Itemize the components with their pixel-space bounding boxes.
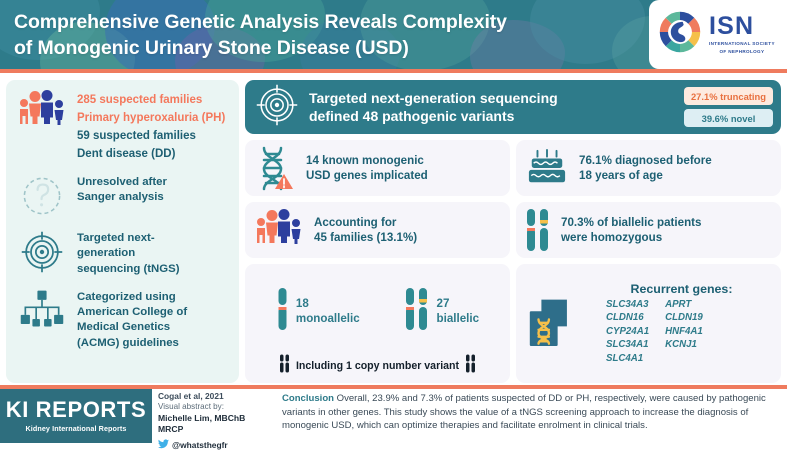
card-age-at-diagnosis: 76.1% diagnosed before 18 years of age (516, 140, 781, 196)
credit-label: Visual abstract by: (158, 402, 276, 413)
known-genes-line1: 14 known monogenic (306, 154, 424, 167)
cohort-ph-count: 285 suspected families (77, 94, 202, 106)
family-group-icon (16, 89, 68, 133)
homozygous-line2: were homozygous (561, 231, 662, 244)
page-title-line2: of Monogenic Urinary Stone Disease (USD) (14, 36, 634, 62)
twitter-handle: @whatsthegfr (172, 440, 228, 450)
gene-name: SLC34A3 (606, 298, 649, 311)
dna-helix-warning-icon (254, 145, 296, 191)
age-line1: 76.1% diagnosed before (579, 154, 712, 167)
card-families-accounted: Accounting for 45 families (13.1%) (245, 202, 510, 258)
families-line2: 45 families (13.1%) (314, 231, 417, 244)
badge-truncating: 27.1% truncating (684, 87, 773, 105)
conclusion-text: Overall, 23.9% and 7.3% of patients susp… (282, 393, 766, 431)
chromosome-single-icon (276, 287, 289, 336)
banner-line2: defined 48 pathogenic variants (309, 108, 514, 124)
card-homozygous-text: 70.3% of biallelic patients were homozyg… (561, 215, 701, 246)
card-age-text: 76.1% diagnosed before 18 years of age (579, 153, 712, 184)
card-recurrent-genes: Recurrent genes: SLC34A3 CLDN16 CYP24A1 … (516, 264, 781, 383)
page-footer: KI REPORTS Kidney International Reports … (0, 389, 787, 443)
sidebar-item-unresolved: Unresolved after Sanger analysis (16, 174, 231, 218)
results-column-left: 14 known monogenic USD genes implicated (245, 140, 510, 383)
tngs-banner: Targeted next-generation sequencing defi… (245, 80, 781, 134)
results-grid: 14 known monogenic USD genes implicated (245, 140, 781, 383)
author-credits: Cogal et al, 2021 Visual abstract by: Mi… (152, 389, 280, 443)
sidebar-unresolved-label: Unresolved after Sanger analysis (77, 174, 167, 206)
allelic-counts: 18 monoallelic (254, 271, 501, 352)
isn-logo: ISN INTERNATIONAL SOCIETY OF NEPHROLOGY (649, 0, 787, 69)
banner-line1: Targeted next-generation sequencing (309, 90, 558, 106)
dashed-question-circle-icon (16, 174, 68, 218)
cohort-dd-count: 59 suspected families (77, 130, 196, 142)
biallelic-label: 27 biallelic (437, 297, 480, 326)
gene-name: CLDN19 (665, 311, 703, 324)
gene-name: APRT (665, 298, 703, 311)
card-known-genes: 14 known monogenic USD genes implicated (245, 140, 510, 196)
sidebar-tngs-label: Targeted next- generation sequencing (tN… (77, 230, 180, 277)
sidebar-item-tngs: Targeted next- generation sequencing (tN… (16, 230, 231, 277)
target-crosshair-icon (16, 230, 68, 274)
gene-name: CYP24A1 (606, 325, 649, 338)
sidebar-acmg-label: Categorized using American College of Me… (77, 289, 187, 351)
card-known-genes-text: 14 known monogenic USD genes implicated (306, 153, 428, 184)
family-group-icon (254, 208, 304, 252)
document-dna-icon (524, 295, 582, 353)
chromosome-pair-icon (404, 287, 430, 336)
target-crosshair-icon (255, 83, 299, 132)
gene-name: HNF4A1 (665, 325, 703, 338)
sidebar-item-acmg: Categorized using American College of Me… (16, 289, 231, 351)
ki-reports-subtitle: Kidney International Reports (25, 424, 126, 433)
conclusion-section: Conclusion Overall, 23.9% and 7.3% of pa… (280, 389, 787, 443)
hierarchy-tree-icon (16, 289, 68, 329)
known-genes-line2: USD genes implicated (306, 169, 428, 182)
birthday-cake-icon (525, 148, 569, 188)
chromosome-pair-small-right-icon (465, 354, 476, 378)
page-title: Comprehensive Genetic Analysis Reveals C… (14, 10, 634, 61)
banner-badges: 27.1% truncating 39.6% novel (684, 87, 773, 127)
cohort-dd-label: Dent disease (DD) (77, 148, 175, 160)
card-allelic-breakdown: 18 monoallelic (245, 264, 510, 383)
ki-reports-logo: KI REPORTS Kidney International Reports (0, 389, 152, 443)
age-line2: 18 years of age (579, 169, 663, 182)
chromosome-pair-icon (525, 208, 551, 252)
gene-column-2: APRT CLDN19 HNF4A1 KCNJ1 (665, 298, 703, 365)
ki-reports-title: KI REPORTS (6, 399, 146, 421)
gene-column-1: SLC34A3 CLDN16 CYP24A1 SLC34A1 SLC4A1 (606, 298, 649, 365)
author-credentials: MRCP (158, 424, 276, 435)
card-families-text: Accounting for 45 families (13.1%) (314, 215, 417, 246)
sidebar-item-cohort: 285 suspected families Primary hyperoxal… (16, 89, 231, 162)
copy-number-text: Including 1 copy number variant (296, 360, 459, 372)
results-column-right: 76.1% diagnosed before 18 years of age (516, 140, 781, 383)
citation: Cogal et al, 2021 (158, 391, 276, 402)
gene-name: SLC4A1 (606, 352, 649, 365)
conclusion-paragraph: Conclusion Overall, 23.9% and 7.3% of pa… (282, 392, 779, 433)
results-content: Targeted next-generation sequencing defi… (245, 80, 781, 383)
twitter-credit[interactable]: @whatsthegfr (158, 436, 276, 454)
isn-logo-text: ISN (709, 14, 775, 39)
banner-text: Targeted next-generation sequencing defi… (309, 89, 674, 125)
isn-logo-subtitle-line1: INTERNATIONAL SOCIETY (709, 41, 775, 47)
biallelic-count: 27 (437, 297, 450, 310)
chromosome-pair-small-left-icon (279, 354, 290, 378)
monoallelic-label: 18 monoallelic (296, 297, 360, 326)
cohort-ph-label: Primary hyperoxaluria (PH) (77, 112, 225, 124)
monoallelic-count: 18 (296, 297, 309, 310)
gene-name: KCNJ1 (665, 338, 703, 351)
card-homozygous: 70.3% of biallelic patients were homozyg… (516, 202, 781, 258)
conclusion-keyword: Conclusion (282, 393, 334, 404)
recurrent-genes-columns: SLC34A3 CLDN16 CYP24A1 SLC34A1 SLC4A1 AP… (590, 298, 773, 365)
page-header: Comprehensive Genetic Analysis Reveals C… (0, 0, 787, 69)
families-line1: Accounting for (314, 216, 396, 229)
biallelic-text: biallelic (437, 312, 480, 325)
gene-name: SLC34A1 (606, 338, 649, 351)
main-content: 285 suspected families Primary hyperoxal… (0, 73, 787, 385)
homozygous-line1: 70.3% of biallelic patients (561, 216, 701, 229)
badge-novel: 39.6% novel (684, 109, 773, 127)
isn-emblem-icon (657, 9, 703, 60)
page-title-line1: Comprehensive Genetic Analysis Reveals C… (14, 10, 634, 36)
methods-sidebar: 285 suspected families Primary hyperoxal… (6, 80, 239, 383)
monoallelic-group: 18 monoallelic (276, 287, 360, 336)
isn-logo-subtitle-line2: OF NEPHROLOGY (709, 49, 775, 55)
monoallelic-text: monoallelic (296, 312, 360, 325)
biallelic-group: 27 biallelic (404, 287, 480, 336)
author-name: Michelle Lim, MBChB (158, 413, 276, 424)
recurrent-genes-title: Recurrent genes: (590, 282, 773, 296)
twitter-bird-icon (158, 436, 169, 454)
recurrent-genes-body: Recurrent genes: SLC34A3 CLDN16 CYP24A1 … (590, 282, 773, 365)
copy-number-note: Including 1 copy number variant (254, 354, 501, 378)
gene-name: CLDN16 (606, 311, 649, 324)
